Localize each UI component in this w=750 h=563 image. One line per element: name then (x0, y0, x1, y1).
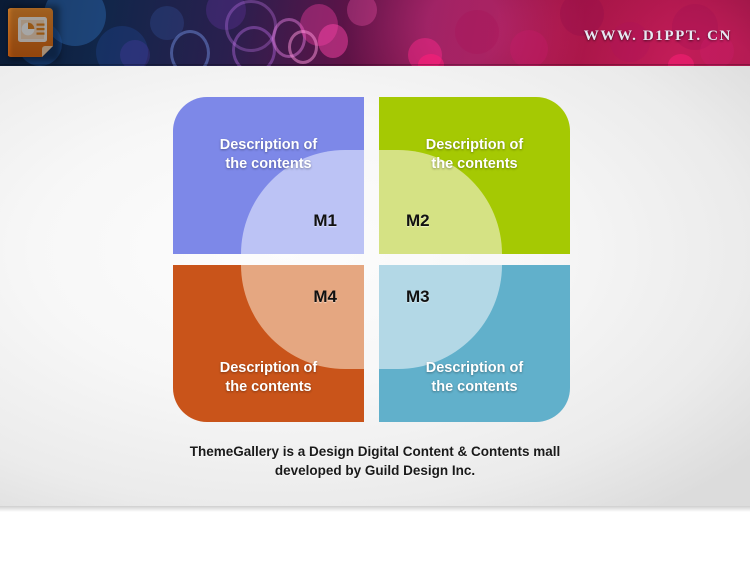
bokeh-circle (150, 6, 184, 40)
bokeh-ring (232, 26, 276, 66)
description-line-1: Description of (426, 360, 523, 376)
footer-bar: 课件工坊 HTTP://WWW.D1PPT.CN (0, 506, 750, 563)
bokeh-ring (272, 18, 306, 58)
quadrant-diagram: Description of the contents M1 Descripti… (173, 97, 570, 422)
powerpoint-document-icon[interactable] (8, 5, 60, 61)
quadrant-label-m1: M1 (313, 211, 337, 231)
bokeh-ring (225, 0, 277, 52)
description-line-1: Description of (426, 137, 523, 153)
quadrant-description: Description of the contents (379, 359, 570, 397)
bokeh-circle (510, 30, 548, 66)
quadrant-description: Description of the contents (173, 136, 364, 174)
header-url: WWW. D1PPT. CN (584, 28, 732, 45)
footer-divider (0, 506, 750, 512)
quadrant-m1[interactable]: Description of the contents M1 (173, 97, 364, 254)
description-line-1: Description of (220, 137, 317, 153)
description-line-2: the contents (225, 156, 311, 172)
bokeh-ring (170, 30, 210, 66)
logo-shadow (8, 5, 60, 61)
bokeh-circle (206, 0, 246, 30)
description-line-2: the contents (225, 379, 311, 395)
quadrant-label-m2: M2 (406, 211, 430, 231)
quadrant-m3[interactable]: Description of the contents M3 (379, 265, 570, 422)
bokeh-circle (300, 4, 338, 46)
caption-line-2: developed by Guild Design Inc. (275, 463, 475, 478)
description-line-1: Description of (220, 360, 317, 376)
bokeh-circle (120, 40, 150, 66)
quadrant-highlight (379, 265, 502, 369)
bokeh-circle (318, 24, 348, 58)
quadrant-label-m4: M4 (313, 287, 337, 307)
header-banner: WWW. D1PPT. CN (0, 0, 750, 66)
quadrant-label-m3: M3 (406, 287, 430, 307)
bokeh-circle (96, 26, 148, 66)
bokeh-circle (455, 10, 499, 54)
quadrant-description: Description of the contents (173, 359, 364, 397)
bokeh-ring (288, 30, 318, 64)
caption-text: ThemeGallery is a Design Digital Content… (0, 442, 750, 480)
description-line-2: the contents (431, 379, 517, 395)
quadrant-highlight (241, 265, 364, 369)
quadrant-description: Description of the contents (379, 136, 570, 174)
caption-line-1: ThemeGallery is a Design Digital Content… (190, 444, 561, 459)
bokeh-circle (347, 0, 377, 26)
bokeh-circle (408, 38, 442, 66)
description-line-2: the contents (431, 156, 517, 172)
quadrant-m4[interactable]: Description of the contents M4 (173, 265, 364, 422)
quadrant-m2[interactable]: Description of the contents M2 (379, 97, 570, 254)
